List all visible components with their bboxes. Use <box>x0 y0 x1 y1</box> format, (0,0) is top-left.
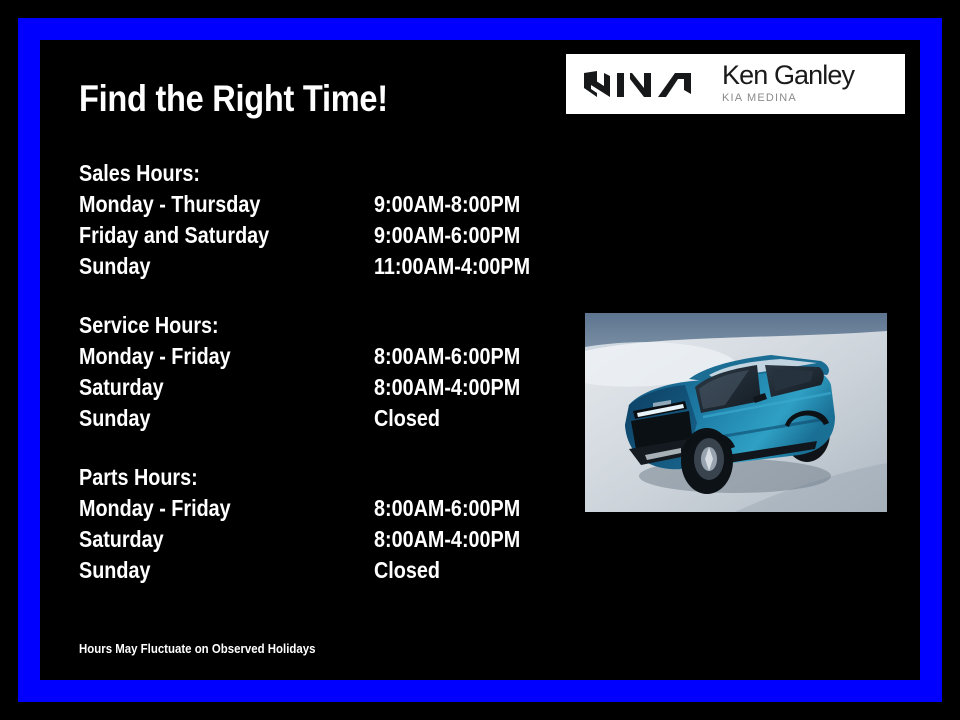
dealer-name: Ken Ganley <box>722 62 854 89</box>
kia-ev9-suv-photo <box>585 313 887 512</box>
hours-time-value: Closed <box>374 403 440 434</box>
hours-row: Saturday 8:00AM-4:00PM <box>79 372 539 403</box>
hours-heading-service: Service Hours: <box>79 310 475 341</box>
hours-heading-parts: Parts Hours: <box>79 462 475 493</box>
hours-row: Sunday Closed <box>79 403 539 434</box>
dealership-hours-slide: Find the Right Time! Sales Hours: Monday… <box>0 0 960 720</box>
hours-time-value: 8:00AM-4:00PM <box>374 372 520 403</box>
hours-day-label: Sunday <box>79 251 150 282</box>
hours-heading-sales: Sales Hours: <box>79 158 475 189</box>
hours-day-label: Monday - Thursday <box>79 189 260 220</box>
page-title: Find the Right Time! <box>79 78 388 120</box>
hours-time-value: 9:00AM-8:00PM <box>374 189 520 220</box>
hours-block-sales: Sales Hours: Monday - Thursday 9:00AM-8:… <box>79 158 539 282</box>
hours-time-value: 8:00AM-6:00PM <box>374 493 520 524</box>
hours-time-value: 8:00AM-6:00PM <box>374 341 520 372</box>
slide-canvas: Find the Right Time! Sales Hours: Monday… <box>0 0 960 720</box>
dealer-text-group: Ken Ganley KIA MEDINA <box>722 62 854 106</box>
dealer-logo-panel: Ken Ganley KIA MEDINA <box>566 54 905 114</box>
hours-day-label: Friday and Saturday <box>79 220 269 251</box>
dealer-subtitle: KIA MEDINA <box>722 91 854 106</box>
hours-row: Monday - Thursday 9:00AM-8:00PM <box>79 189 539 220</box>
hours-block-parts: Parts Hours: Monday - Friday 8:00AM-6:00… <box>79 462 539 586</box>
hours-row: Sunday 11:00AM-4:00PM <box>79 251 539 282</box>
hours-time-value: 9:00AM-6:00PM <box>374 220 520 251</box>
hours-day-label: Saturday <box>79 524 164 555</box>
hours-day-label: Monday - Friday <box>79 341 231 372</box>
hours-day-label: Sunday <box>79 403 150 434</box>
hours-day-label: Monday - Friday <box>79 493 231 524</box>
hours-block-service: Service Hours: Monday - Friday 8:00AM-6:… <box>79 310 539 434</box>
hours-row: Friday and Saturday 9:00AM-6:00PM <box>79 220 539 251</box>
hours-time-value: 11:00AM-4:00PM <box>374 251 530 282</box>
hours-day-label: Saturday <box>79 372 164 403</box>
hours-row: Sunday Closed <box>79 555 539 586</box>
holiday-disclaimer: Hours May Fluctuate on Observed Holidays <box>79 641 315 656</box>
hours-row: Monday - Friday 8:00AM-6:00PM <box>79 341 539 372</box>
kia-wordmark-icon <box>580 67 700 101</box>
hours-row: Monday - Friday 8:00AM-6:00PM <box>79 493 539 524</box>
hours-time-value: 8:00AM-4:00PM <box>374 524 520 555</box>
hours-row: Saturday 8:00AM-4:00PM <box>79 524 539 555</box>
vehicle-illustration <box>585 313 887 512</box>
hours-day-label: Sunday <box>79 555 150 586</box>
hours-time-value: Closed <box>374 555 440 586</box>
